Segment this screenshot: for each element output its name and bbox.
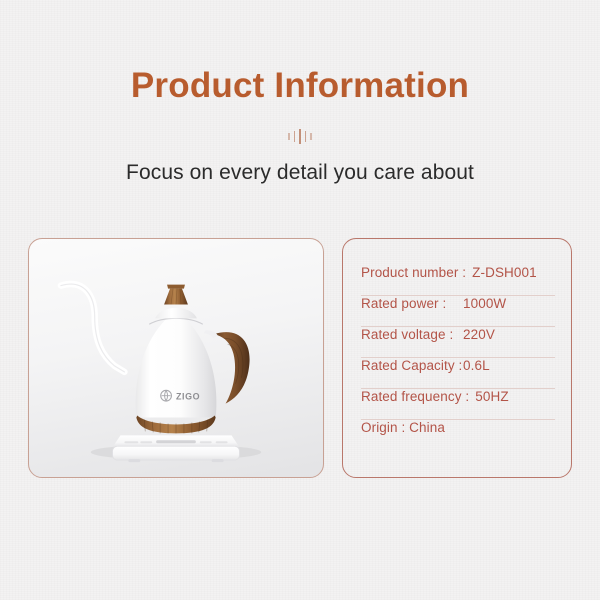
product-image-panel: ZIGO (28, 238, 324, 478)
tick-marks-divider-icon (277, 127, 323, 147)
spec-value: 220V (463, 327, 495, 342)
spec-row: Product number : Z-DSH001 (361, 265, 555, 296)
spec-label: Rated voltage : (361, 327, 457, 342)
specification-table: Product number : Z-DSH001 Rated power : … (342, 238, 572, 478)
page-subtitle: Focus on every detail you care about (0, 161, 600, 185)
spec-label: Rated frequency : (361, 389, 469, 404)
svg-text:ZIGO: ZIGO (176, 392, 200, 402)
spec-label: Rated Capacity : (361, 358, 457, 373)
spec-row: Rated power : 1000W (361, 296, 555, 327)
content-row: ZIGO (28, 238, 572, 478)
spec-row: Rated Capacity : 0.6L (361, 358, 555, 389)
spec-row: Origin : China (361, 420, 555, 451)
spec-label: Product number : (361, 265, 466, 280)
kettle-illustration-icon: ZIGO (29, 239, 323, 477)
page-title: Product Information (0, 68, 600, 105)
spec-value: Z-DSH001 (472, 265, 537, 280)
spec-row: Rated voltage : 220V (361, 327, 555, 358)
spec-value: 1000W (463, 296, 506, 311)
spec-value: 0.6L (463, 358, 490, 373)
spec-row: Rated frequency : 50HZ (361, 389, 555, 420)
spec-value: 50HZ (475, 389, 508, 404)
brand-logo-icon: ZIGO (161, 390, 200, 401)
spec-label: Rated power : (361, 296, 457, 311)
spec-label: Origin : China (361, 420, 445, 435)
page-header: Product Information Focus on every detai… (0, 0, 600, 185)
